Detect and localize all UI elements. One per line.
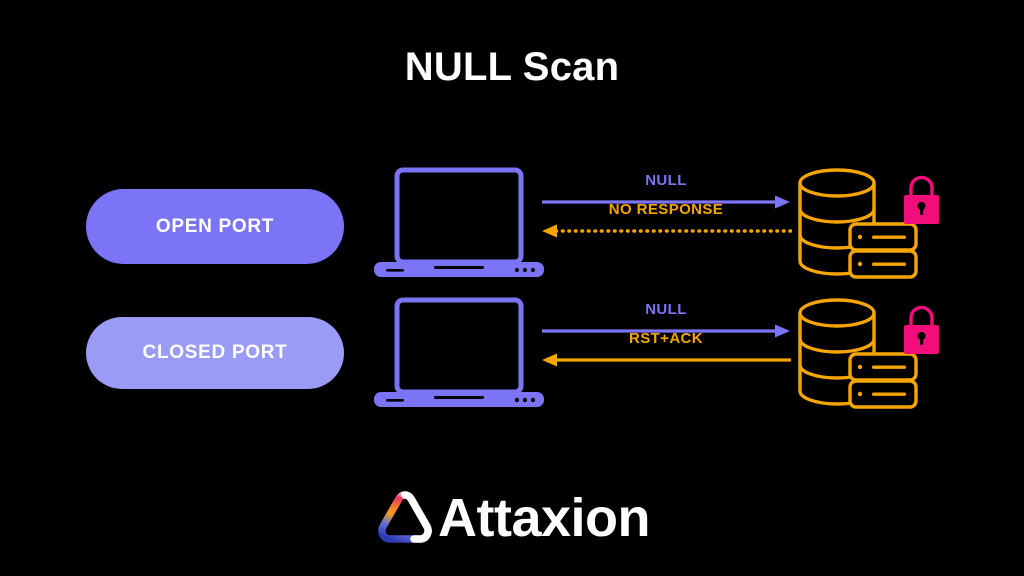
status-badge-open-port-label: OPEN PORT [156, 216, 274, 238]
message-label-no-response: NO RESPONSE [540, 201, 792, 218]
brand-wordmark: Attaxion [438, 491, 650, 545]
message-flow-open-port: NULL NO RESPONSE [540, 168, 792, 248]
padlock-icon [904, 178, 939, 225]
status-badge-open-port: OPEN PORT [86, 189, 344, 264]
status-badge-closed-port-label: CLOSED PORT [143, 342, 288, 364]
status-badge-closed-port: CLOSED PORT [86, 317, 344, 389]
database-server-icon [792, 166, 947, 281]
padlock-icon [904, 308, 939, 355]
database-server-icon [792, 296, 947, 411]
laptop-icon [371, 296, 547, 411]
message-label-null-open: NULL [540, 172, 792, 189]
page-title: NULL Scan [0, 42, 1024, 92]
arrow-rst-ack-icon [540, 349, 792, 371]
slide-canvas: NULL Scan OPEN PORT NULL NO [0, 0, 1024, 576]
message-label-rst-ack: RST+ACK [540, 330, 792, 347]
message-flow-closed-port: NULL RST+ACK [540, 297, 792, 377]
laptop-icon [371, 166, 547, 281]
message-label-null-closed: NULL [540, 301, 792, 318]
brand-logo: Attaxion [0, 485, 1024, 551]
attaxion-a-mark-icon [374, 488, 436, 548]
arrow-no-response-icon [540, 220, 792, 242]
